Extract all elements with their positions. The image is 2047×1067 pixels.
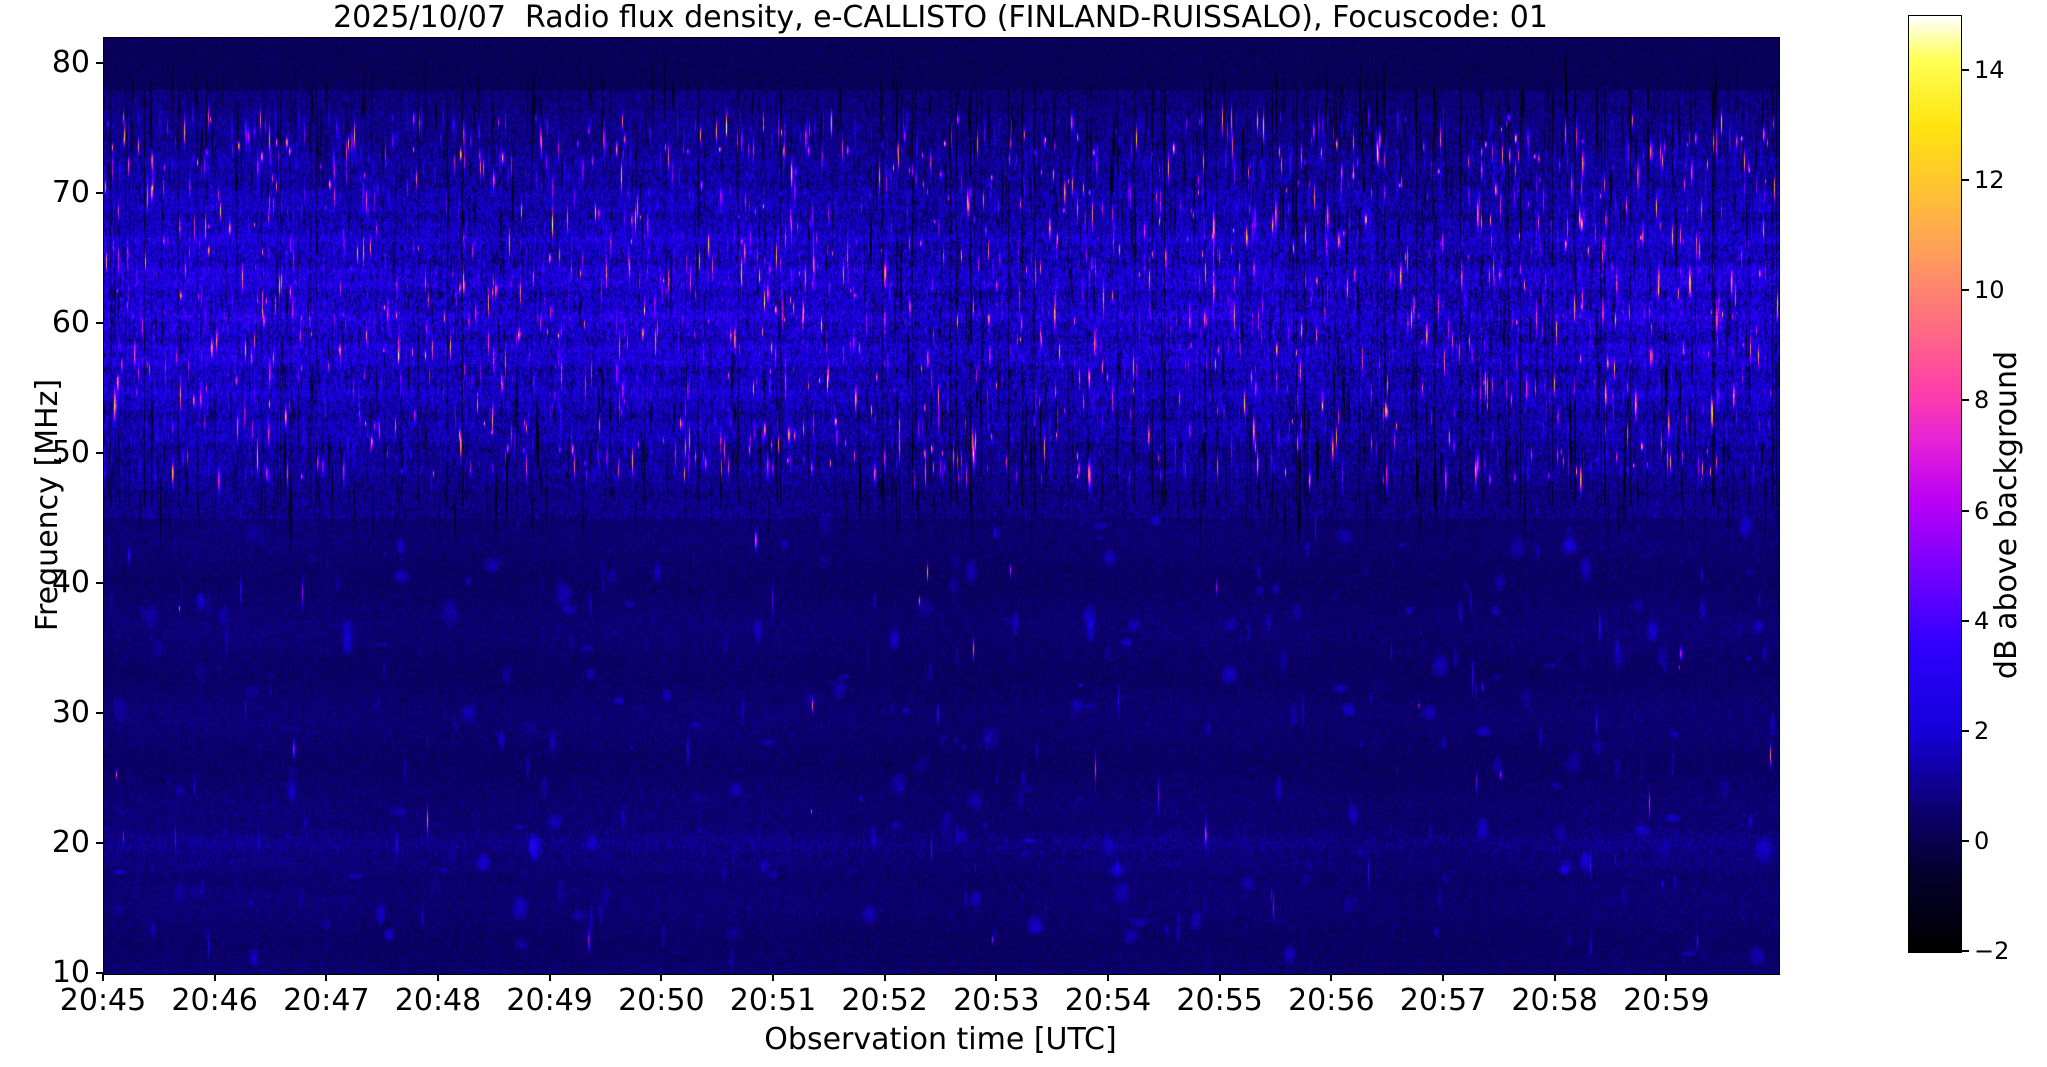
spectrogram-image: [104, 38, 1779, 974]
colorbar-tick-label: 6: [1974, 497, 1989, 525]
y-axis-label: Frequency [MHz]: [30, 37, 66, 973]
x-axis-tick-mark: [1219, 974, 1221, 981]
colorbar-gradient: [1908, 15, 1962, 953]
x-axis-tick-mark: [772, 974, 774, 981]
x-axis-tick-mark: [1554, 974, 1556, 981]
y-axis-tick-mark: [96, 712, 103, 714]
y-axis-tick-mark: [96, 192, 103, 194]
y-axis-tick-mark: [96, 322, 103, 324]
x-axis-tick-mark: [214, 974, 216, 981]
colorbar-tick-label: 8: [1974, 386, 1989, 414]
x-axis-tick-mark: [1107, 974, 1109, 981]
colorbar-tick-mark: [1962, 730, 1969, 732]
colorbar-tick-mark: [1962, 399, 1969, 401]
y-axis-tick-mark: [96, 582, 103, 584]
x-axis-tick-mark: [995, 974, 997, 981]
x-axis-tick-mark: [102, 974, 104, 981]
spectrogram-plot-area: [103, 37, 1780, 975]
colorbar-tick-mark: [1962, 289, 1969, 291]
colorbar-tick-label: 0: [1974, 827, 1989, 855]
y-axis-tick-mark: [96, 452, 103, 454]
colorbar-tick-mark: [1962, 840, 1969, 842]
x-axis-tick-mark: [660, 974, 662, 981]
x-axis-tick-mark: [1330, 974, 1332, 981]
x-axis-tick-mark: [549, 974, 551, 981]
x-axis-tick-mark: [437, 974, 439, 981]
colorbar-tick-label: 2: [1974, 717, 1989, 745]
x-axis-tick-mark: [325, 974, 327, 981]
colorbar-tick-mark: [1962, 69, 1969, 71]
page-title: 2025/10/07 Radio flux density, e-CALLIST…: [103, 2, 1778, 34]
colorbar: 14121086420−2 dB above background: [1908, 15, 2047, 1055]
spectrogram-figure: 2025/10/07 Radio flux density, e-CALLIST…: [0, 0, 2047, 1067]
colorbar-tick-mark: [1962, 179, 1969, 181]
x-axis-tick-mark: [884, 974, 886, 981]
colorbar-label: dB above background: [1990, 47, 2024, 983]
colorbar-tick-mark: [1962, 950, 1969, 952]
x-axis-tick-mark: [1442, 974, 1444, 981]
colorbar-tick-mark: [1962, 510, 1969, 512]
x-axis-tick-mark: [1665, 974, 1667, 981]
y-axis-tick-mark: [96, 842, 103, 844]
y-axis-tick-mark: [96, 62, 103, 64]
colorbar-tick-mark: [1962, 620, 1969, 622]
x-axis-tick-label: 20:59: [1596, 983, 1736, 1018]
x-axis-label: Observation time [UTC]: [103, 1020, 1778, 1060]
colorbar-tick-label: 4: [1974, 607, 1989, 635]
